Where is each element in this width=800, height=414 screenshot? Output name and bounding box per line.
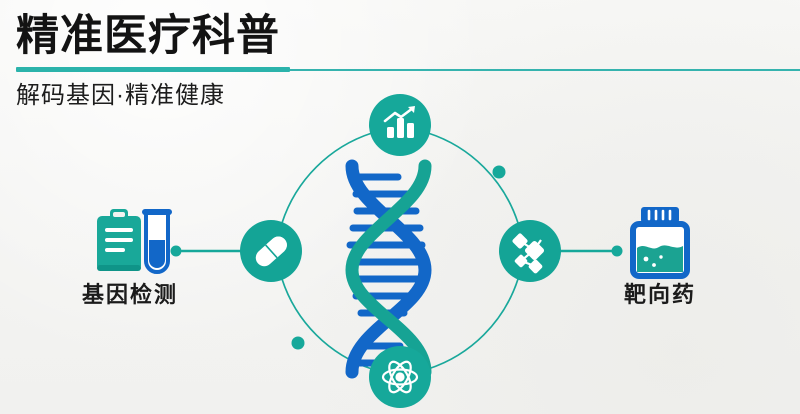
infographic-svg: [0, 0, 800, 414]
clipboard-clip-inner: [113, 212, 125, 217]
bottle-cap: [641, 207, 679, 223]
connector-right: [560, 246, 623, 257]
clipboard-base: [97, 265, 141, 271]
dna-helix-graphic: [350, 166, 425, 372]
test-tube-liquid: [149, 240, 165, 268]
connector-right-dot: [612, 246, 623, 257]
node-right[interactable]: [499, 220, 561, 282]
bottle-liquid: [637, 245, 683, 274]
left-item-label: 基因检测: [55, 277, 205, 309]
orbit-dot-upper-right: [493, 166, 506, 179]
right-item-label: 靶向药: [585, 277, 735, 309]
infographic-stage: 基因检测 靶向药: [0, 0, 800, 414]
test-tube-rim: [142, 209, 172, 215]
connector-left: [171, 246, 241, 257]
orbit-dot-lower-left: [292, 337, 305, 350]
clipboard-body: [97, 216, 141, 271]
pill-bottle-icon: [633, 207, 687, 276]
connector-left-dot: [171, 246, 182, 257]
node-top[interactable]: [369, 94, 431, 156]
node-left[interactable]: [240, 220, 302, 282]
poster-canvas: 精准医疗科普 解码基因·精准健康: [0, 0, 800, 414]
node-bottom[interactable]: [369, 346, 431, 408]
clipboard-test-tube-icon: [97, 209, 172, 272]
